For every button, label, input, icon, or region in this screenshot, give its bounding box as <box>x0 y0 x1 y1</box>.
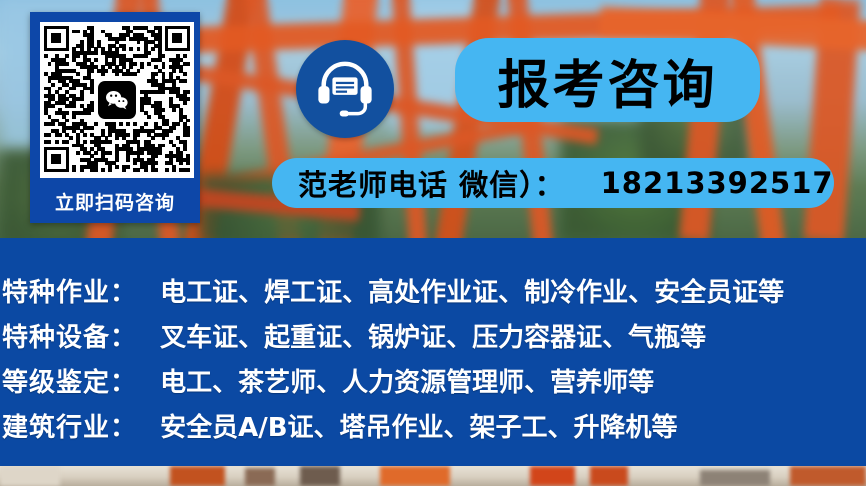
strip-element <box>700 470 770 486</box>
category-row-special-equipment: 特种设备： 叉车证、起重证、锅炉证、压力容器证、气瓶等 <box>2 317 706 354</box>
strip-element <box>170 466 225 486</box>
contact-phone-badge[interactable]: 范老师电话 微信）： 18213392517 <box>272 158 834 208</box>
category-items: 电工证、焊工证、高处作业证、制冷作业、安全员证等 <box>160 278 784 308</box>
category-items: 电工、茶艺师、人力资源管理师、营养师等 <box>160 368 654 398</box>
strip-element <box>380 466 450 486</box>
category-items: 叉车证、起重证、锅炉证、压力容器证、气瓶等 <box>160 323 706 353</box>
category-row-construction-industry: 建筑行业： 安全员A/B证、塔吊作业、架子工、升降机等 <box>2 407 678 444</box>
category-label: 建筑行业： <box>2 413 137 443</box>
qr-code-card[interactable]: 立即扫码咨询 <box>30 12 200 223</box>
qr-caption: 立即扫码咨询 <box>34 188 196 215</box>
page-title: 报考咨询 <box>497 43 717 118</box>
qr-code-image-area <box>40 22 194 178</box>
strip-element <box>0 466 60 486</box>
strip-element <box>530 466 575 486</box>
phone-number[interactable]: 18213392517 <box>601 166 834 200</box>
category-label: 特种作业： <box>2 278 137 308</box>
wechat-icon <box>98 81 136 119</box>
strip-element <box>590 466 628 486</box>
bottom-photo-strip <box>0 466 866 486</box>
category-label: 特种设备： <box>2 323 137 353</box>
category-label: 等级鉴定： <box>2 368 137 398</box>
category-row-special-operations: 特种作业： 电工证、焊工证、高处作业证、制冷作业、安全员证等 <box>2 272 784 309</box>
qr-code-image <box>44 26 190 174</box>
strip-element <box>245 468 275 486</box>
promo-poster: 立即扫码咨询 报考咨询 范老师电话 微信）： 18213392517 特种作业：… <box>0 0 866 486</box>
strip-element <box>790 466 866 486</box>
title-badge: 报考咨询 <box>455 38 760 122</box>
headset-support-icon <box>296 40 394 138</box>
category-items: 安全员A/B证、塔吊作业、架子工、升降机等 <box>160 413 677 443</box>
category-row-grade-assessment: 等级鉴定： 电工、茶艺师、人力资源管理师、营养师等 <box>2 362 654 399</box>
strip-element <box>300 466 340 486</box>
phone-label: 范老师电话 微信）： <box>298 162 565 204</box>
